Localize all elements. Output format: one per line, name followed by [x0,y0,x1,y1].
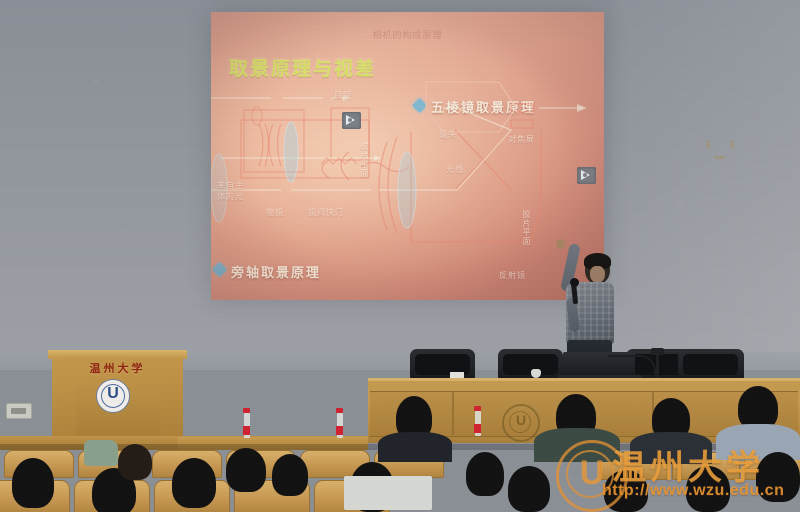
lectern-institution-name: 温州大学 [52,360,183,376]
wall-scuff-mark [707,140,710,149]
projection-screen: 相机的构成原理 取景原理与视差 五棱镜取景原理 旁轴取景原理 [211,12,604,300]
watermark-url: http://www.wzu.edu.cn [602,482,784,500]
label-film-plane-right: 胶片平面 [521,210,532,246]
audience-shoulders [378,432,452,462]
label-film-plane: 胶片平面 [359,142,370,178]
eye-viewfinder-icon [342,112,361,129]
water-bottle[interactable] [474,406,481,436]
power-outlet[interactable] [6,403,32,419]
audience-head [226,448,266,492]
table-emblem [502,404,540,442]
label-objective-lens: 物镜 [266,207,284,218]
microphone-head-icon [570,278,579,287]
bottle-label [474,424,481,433]
water-bottle[interactable] [243,408,250,438]
bottle-label [336,426,343,435]
stage-chair[interactable] [678,349,744,379]
audience-head [118,444,152,480]
table-seam [452,391,454,435]
audience-head [172,458,216,508]
audience-laptop[interactable] [344,476,432,510]
lectern-top [48,350,187,359]
label-leaf-shutter: 镜间快门 [308,207,344,218]
lecture-hall-photo: 相机的构成原理 取景原理与视差 五棱镜取景原理 旁轴取景原理 [0,0,800,512]
label-reflex-mirror: 反射镜 [499,270,526,281]
label-light-ray: 光线 [446,164,464,175]
audience-head [508,466,550,512]
wall-right-lit-area [612,0,800,370]
bottle-label [243,426,250,435]
microphone-stand [656,350,659,380]
label-focusing-screen: 对焦屏 [508,134,535,145]
university-logo [96,379,130,413]
eye-viewfinder-icon [577,167,596,184]
gooseneck-microphone[interactable] [608,355,656,379]
audience-head [466,452,504,496]
label-light-from-subject: 来自主体的光 [217,180,245,202]
presenter-face [590,266,605,283]
label-viewfinder: 目镜 [334,90,352,101]
audience-head [272,454,308,496]
wall-scuff-mark [731,140,734,149]
wall-scuff-mark [714,156,725,159]
audience-head [12,458,54,508]
backpack [84,440,118,466]
label-lens: 镜头 [439,129,457,140]
presenter-pointing-hand [556,239,565,249]
water-bottle[interactable] [336,408,343,438]
stage-chair[interactable] [410,349,475,379]
slide-optical-diagrams [211,12,604,300]
